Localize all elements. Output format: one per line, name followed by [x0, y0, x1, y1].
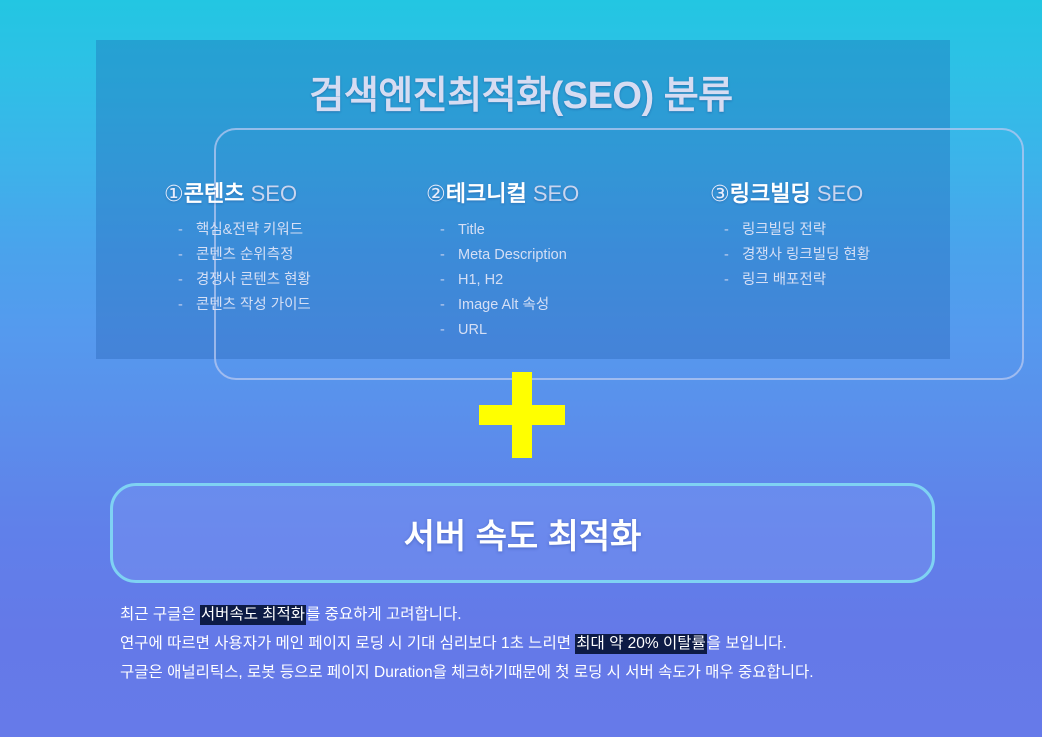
- list-item-label: URL: [458, 322, 487, 338]
- dash-bullet-icon: -: [724, 243, 729, 268]
- circled-number-1-icon: ①: [164, 181, 184, 206]
- caption-line-1: 최근 구글은 서버속도 최적화를 중요하게 고려합니다.: [120, 600, 980, 629]
- dash-bullet-icon: -: [440, 318, 445, 343]
- circled-number-2-icon: ②: [426, 181, 446, 206]
- panel-title: 검색엔진최적화(SEO) 분류: [0, 64, 1042, 119]
- dash-bullet-icon: -: [440, 243, 445, 268]
- list-item: -URL: [458, 318, 706, 343]
- list-item: -Image Alt 속성: [458, 293, 706, 318]
- list-item-label: 링크빌딩 전략: [742, 222, 826, 238]
- seo-column-content-list: -핵심&전략 키워드 -콘텐츠 순위측정 -경쟁사 콘텐츠 현황 -콘텐츠 작성…: [164, 218, 434, 318]
- caption-line-2-highlight: 최대 약 20% 이탈률: [575, 634, 707, 654]
- dash-bullet-icon: -: [178, 268, 183, 293]
- caption-line-1-post: 를 중요하게 고려합니다.: [306, 606, 462, 623]
- list-item: -Meta Description: [458, 243, 706, 268]
- seo-column-linkbuilding-list: -링크빌딩 전략 -경쟁사 링크빌딩 현황 -링크 배포전략: [710, 218, 950, 293]
- dash-bullet-icon: -: [178, 293, 183, 318]
- list-item: -경쟁사 링크빌딩 현황: [742, 243, 950, 268]
- seo-column-content-suffix: SEO: [251, 181, 297, 206]
- list-item: -Title: [458, 218, 706, 243]
- circled-number-3-icon: ③: [710, 181, 730, 206]
- seo-column-content-heading: ①콘텐츠 SEO: [164, 176, 434, 208]
- seo-column-content-name: 콘텐츠: [184, 181, 245, 206]
- dash-bullet-icon: -: [440, 218, 445, 243]
- dash-bullet-icon: -: [724, 268, 729, 293]
- caption-line-1-highlight: 서버속도 최적화: [200, 605, 306, 625]
- caption-line-2: 연구에 따르면 사용자가 메인 페이지 로딩 시 기대 심리보다 1초 느리면 …: [120, 629, 980, 658]
- list-item-label: 경쟁사 콘텐츠 현황: [196, 272, 311, 288]
- caption-line-3-text: 구글은 애널리틱스, 로봇 등으로 페이지 Duration을 체크하기때문에 …: [120, 664, 814, 681]
- list-item-label: Title: [458, 222, 485, 238]
- list-item: -핵심&전략 키워드: [196, 218, 434, 243]
- seo-column-linkbuilding-name: 링크빌딩: [730, 181, 811, 206]
- seo-column-linkbuilding-suffix: SEO: [817, 181, 863, 206]
- plus-icon: [479, 372, 565, 458]
- panel-title-text: 검색엔진최적화(SEO) 분류: [309, 75, 732, 117]
- caption-line-3: 구글은 애널리틱스, 로봇 등으로 페이지 Duration을 체크하기때문에 …: [120, 658, 980, 687]
- list-item: -경쟁사 콘텐츠 현황: [196, 268, 434, 293]
- list-item-label: Image Alt 속성: [458, 297, 549, 313]
- server-speed-box: 서버 속도 최적화: [110, 483, 935, 583]
- caption-line-2-pre: 연구에 따르면 사용자가 메인 페이지 로딩 시 기대 심리보다 1초 느리면: [120, 635, 575, 652]
- seo-column-technical-heading: ②테크니컬 SEO: [426, 176, 706, 208]
- slide-canvas: 검색엔진최적화(SEO) 분류 ①콘텐츠 SEO -핵심&전략 키워드 -콘텐츠…: [0, 0, 1042, 737]
- list-item-label: H1, H2: [458, 272, 503, 288]
- seo-category-columns: ①콘텐츠 SEO -핵심&전략 키워드 -콘텐츠 순위측정 -경쟁사 콘텐츠 현…: [96, 176, 950, 346]
- dash-bullet-icon: -: [440, 293, 445, 318]
- list-item-label: 핵심&전략 키워드: [196, 222, 303, 238]
- seo-column-technical-list: -Title -Meta Description -H1, H2 -Image …: [426, 218, 706, 343]
- list-item-label: 경쟁사 링크빌딩 현황: [742, 247, 870, 263]
- caption-block: 최근 구글은 서버속도 최적화를 중요하게 고려합니다. 연구에 따르면 사용자…: [120, 600, 980, 687]
- list-item-label: 링크 배포전략: [742, 272, 826, 288]
- list-item: -콘텐츠 순위측정: [196, 243, 434, 268]
- caption-line-2-post: 을 보입니다.: [707, 635, 787, 652]
- seo-column-technical: ②테크니컬 SEO -Title -Meta Description -H1, …: [426, 176, 706, 343]
- list-item-label: 콘텐츠 작성 가이드: [196, 297, 311, 313]
- dash-bullet-icon: -: [724, 218, 729, 243]
- seo-column-content: ①콘텐츠 SEO -핵심&전략 키워드 -콘텐츠 순위측정 -경쟁사 콘텐츠 현…: [164, 176, 434, 318]
- plus-vertical-bar: [512, 372, 532, 458]
- list-item: -링크 배포전략: [742, 268, 950, 293]
- seo-column-technical-name: 테크니컬: [446, 181, 527, 206]
- list-item-label: Meta Description: [458, 247, 567, 263]
- seo-column-technical-suffix: SEO: [533, 181, 579, 206]
- dash-bullet-icon: -: [440, 268, 445, 293]
- list-item: -링크빌딩 전략: [742, 218, 950, 243]
- dash-bullet-icon: -: [178, 243, 183, 268]
- list-item: -H1, H2: [458, 268, 706, 293]
- server-speed-box-label: 서버 속도 최적화: [404, 509, 642, 558]
- list-item: -콘텐츠 작성 가이드: [196, 293, 434, 318]
- seo-column-linkbuilding-heading: ③링크빌딩 SEO: [710, 176, 950, 208]
- caption-line-1-pre: 최근 구글은: [120, 606, 200, 623]
- list-item-label: 콘텐츠 순위측정: [196, 247, 293, 263]
- dash-bullet-icon: -: [178, 218, 183, 243]
- seo-column-linkbuilding: ③링크빌딩 SEO -링크빌딩 전략 -경쟁사 링크빌딩 현황 -링크 배포전략: [710, 176, 950, 293]
